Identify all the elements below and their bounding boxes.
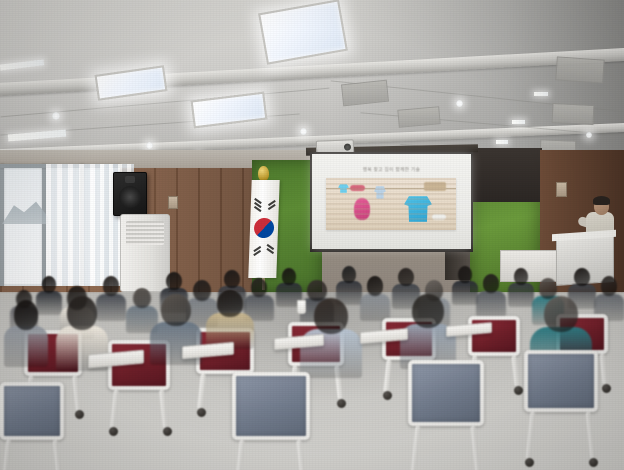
ceiling-vent-tile [552, 103, 595, 125]
chair-back [408, 360, 484, 426]
audience-head [314, 298, 349, 334]
chair-back [468, 316, 520, 356]
garment-pale-blue [374, 186, 386, 199]
garment-blue-shirt [404, 196, 432, 222]
audience-torso [360, 294, 390, 321]
chair-caster [337, 399, 346, 408]
audience-head [133, 288, 151, 308]
audience-head [67, 296, 96, 330]
garment-pink [354, 198, 370, 220]
projector-lens-icon [344, 143, 351, 150]
wall-dark-panel-right [470, 148, 542, 202]
ceiling-downlight [456, 100, 463, 107]
speaker-tweeter [125, 176, 135, 183]
ceiling-downlight [52, 112, 60, 120]
chair-back [524, 350, 598, 412]
garment-red-strip [350, 185, 365, 191]
audience-head [412, 294, 443, 328]
chair-caster [75, 410, 84, 419]
ceiling-strip-light [512, 120, 525, 124]
ceiling-downlight [300, 128, 307, 135]
ceiling-downlight [146, 142, 153, 149]
chair [232, 372, 310, 440]
window-mullion [0, 164, 4, 286]
audience-torso [476, 291, 506, 317]
chair-back [0, 382, 64, 440]
slide-photograph [326, 178, 456, 230]
audience-head [574, 268, 590, 286]
chair [0, 382, 64, 440]
chair-caster [514, 386, 523, 395]
audience-member [4, 300, 48, 366]
chair [408, 360, 484, 426]
garment-small-blue [338, 184, 349, 193]
audience-head [398, 268, 414, 286]
audience-torso [4, 326, 48, 367]
audience-head [161, 294, 190, 326]
presenter-hair [593, 196, 610, 205]
audience-member [206, 290, 254, 348]
chair [524, 350, 598, 412]
audience-head [14, 300, 39, 330]
audience-head [601, 276, 618, 296]
ceiling-downlight [586, 132, 592, 138]
slide-title-text: 행복 찾고 집이 함께한 기술 [312, 167, 471, 173]
ac-grille [126, 221, 164, 245]
coffee-cup [297, 300, 306, 314]
audience-head [217, 290, 244, 317]
chair-back [232, 372, 310, 440]
audience-head [483, 274, 500, 293]
wall-speaker-icon [113, 172, 147, 216]
audience-member [360, 276, 390, 320]
south-korean-flag [248, 180, 279, 278]
audience-head [166, 272, 182, 290]
flag-finial-icon [258, 166, 269, 181]
ceiling-vent-tile [555, 56, 605, 83]
window-pane [2, 166, 42, 284]
taeguk-symbol-icon [251, 214, 278, 241]
chair [468, 316, 520, 356]
speaker-cone [119, 186, 141, 208]
audience-head [103, 276, 120, 296]
audience-member [476, 274, 506, 316]
ceiling-strip-light [534, 92, 548, 96]
ceiling-strip-light [496, 140, 508, 144]
clothesline [326, 188, 456, 189]
audience-head [544, 296, 579, 332]
chair-caster [602, 384, 611, 393]
garment-tan [424, 182, 446, 191]
garment-white [432, 214, 446, 220]
ceiling-vent-tile [397, 106, 440, 128]
chair-caster [589, 458, 598, 467]
audience-head [367, 276, 384, 296]
audience-head [224, 270, 240, 288]
audience-torso [150, 322, 202, 365]
lecture-hall-photograph: 행복 찾고 집이 함께한 기술 [0, 0, 624, 470]
wall-outlet [556, 182, 567, 197]
projection-screen: 행복 찾고 집이 함께한 기술 [312, 154, 471, 249]
wall-switch [168, 196, 178, 209]
chair-caster [163, 427, 172, 436]
